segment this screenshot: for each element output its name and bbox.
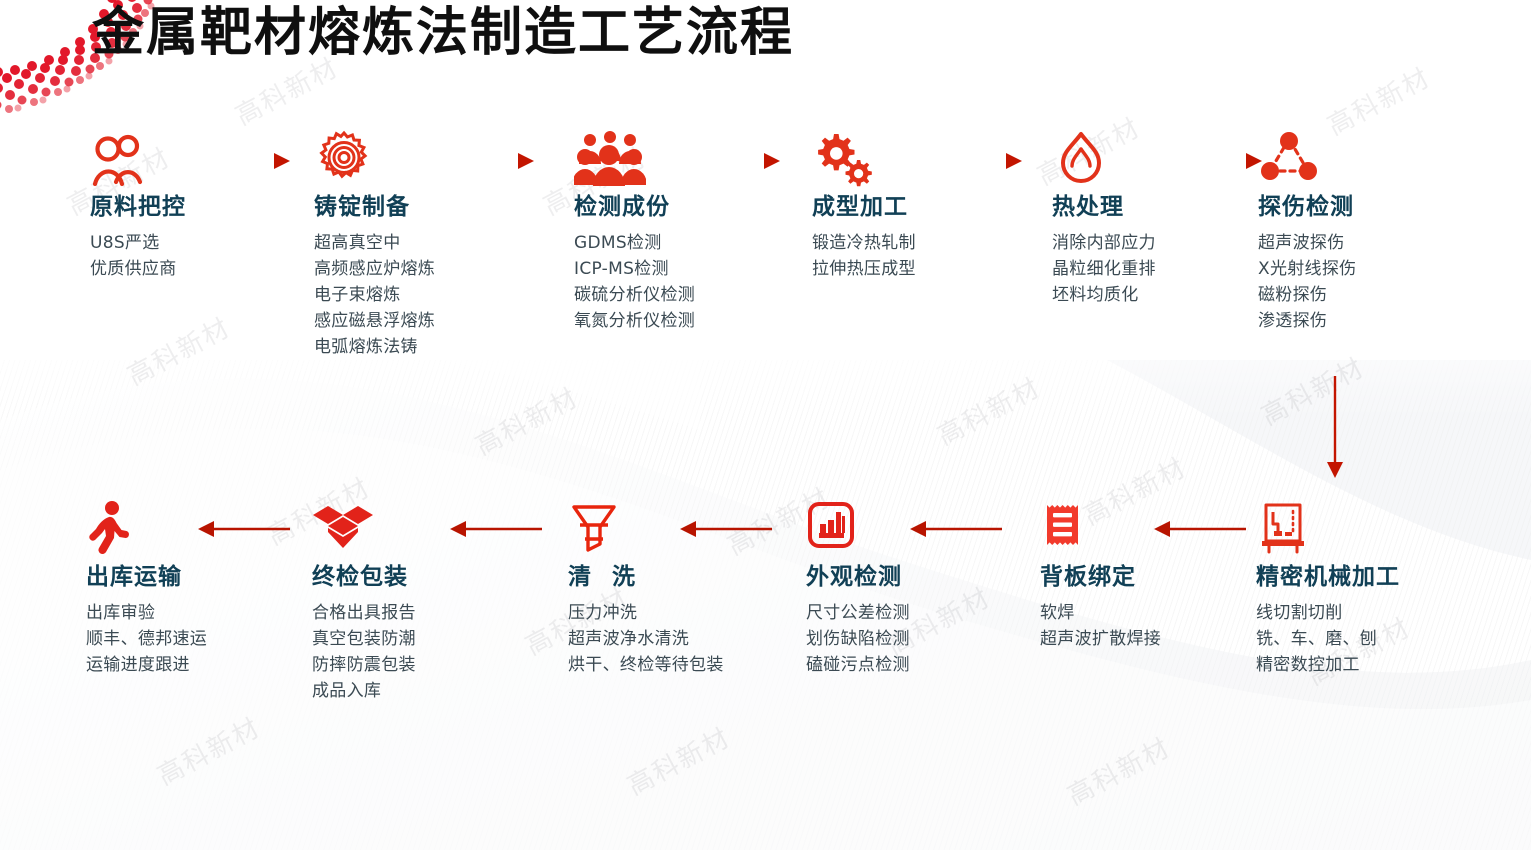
- two-people-icon: [90, 130, 186, 188]
- watermark: 高科新材: [1060, 727, 1176, 812]
- flame-icon: [1052, 130, 1156, 188]
- list-item: GDMS检测: [574, 230, 695, 256]
- list-item: 碳硫分析仪检测: [574, 282, 695, 308]
- list-item: X光射线探伤: [1258, 256, 1356, 282]
- step-heading: 原料把控: [90, 194, 186, 220]
- list-item: 精密数控加工: [1256, 652, 1400, 678]
- step-item-list: GDMS检测 ICP-MS检测 碳硫分析仪检测 氧氮分析仪检测: [574, 230, 695, 334]
- list-item: 超声波净水清洗: [568, 626, 748, 652]
- step-item-list: 尺寸公差检测 划伤缺陷检测 磕碰污点检测: [806, 600, 910, 678]
- step-heading: 热处理: [1052, 194, 1156, 220]
- step-composition-testing[interactable]: 检测成份 GDMS检测 ICP-MS检测 碳硫分析仪检测 氧氮分析仪检测: [574, 130, 695, 334]
- arrow-down-6-7: [1322, 376, 1348, 480]
- step-precision-machining[interactable]: 精密机械加工 线切割切削 铣、车、磨、刨 精密数控加工: [1256, 500, 1400, 678]
- gear-target-icon: [314, 130, 435, 188]
- watermark: 高科新材: [150, 707, 266, 792]
- step-cleaning[interactable]: 清洗 压力冲洗 超声波净水清洗 烘干、终检等待包装: [568, 500, 748, 678]
- step-heading: 探伤检测: [1258, 194, 1356, 220]
- step-heading: 终检包装: [312, 564, 416, 590]
- list-item: 运输进度跟进: [86, 652, 207, 678]
- step-item-list: 线切割切削 铣、车、磨、刨 精密数控加工: [1256, 600, 1400, 678]
- list-item: 出库审验: [86, 600, 207, 626]
- list-item: 划伤缺陷检测: [806, 626, 910, 652]
- cnc-machine-icon: [1256, 500, 1400, 558]
- arrow-right-1-2: [196, 148, 292, 174]
- list-item: 磕碰污点检测: [806, 652, 910, 678]
- page-header: 金属靶材熔炼法制造工艺流程: [0, 0, 1531, 105]
- list-item: 拉伸热压成型: [812, 256, 916, 282]
- list-item: 顺丰、德邦速运: [86, 626, 207, 652]
- step-item-list: 软焊 超声波扩散焊接: [1040, 600, 1161, 652]
- arrow-left-7-8: [1152, 516, 1248, 542]
- list-item: 渗透探伤: [1258, 308, 1356, 334]
- step-raw-material-control[interactable]: 原料把控 U8S严选 优质供应商: [90, 130, 186, 282]
- step-heading: 外观检测: [806, 564, 910, 590]
- step-ingot-preparation[interactable]: 铸锭制备 超高真空中 高频感应炉熔炼 电子束熔炼 感应磁悬浮熔炼 电弧熔炼法铸: [314, 130, 435, 360]
- list-item: 超高真空中: [314, 230, 435, 256]
- arrow-left-11-12: [196, 516, 292, 542]
- step-item-list: 出库审验 顺丰、德邦速运 运输进度跟进: [86, 600, 207, 678]
- flow-diagram-page: 高科新材 高科新材 高科新材 高科新材 高科新材 高科新材 高科新材 高科新材 …: [0, 0, 1531, 850]
- list-item: 晶粒细化重排: [1052, 256, 1156, 282]
- list-item: 合格出具报告: [312, 600, 416, 626]
- list-item: 真空包装防潮: [312, 626, 416, 652]
- bonding-plate-icon: [1040, 500, 1161, 558]
- list-item: 压力冲洗: [568, 600, 748, 626]
- list-item: 感应磁悬浮熔炼: [314, 308, 435, 334]
- arrow-right-5-6: [1168, 148, 1264, 174]
- step-item-list: 超高真空中 高频感应炉熔炼 电子束熔炼 感应磁悬浮熔炼 电弧熔炼法铸: [314, 230, 435, 360]
- list-item: 线切割切削: [1256, 600, 1400, 626]
- step-item-list: U8S严选 优质供应商: [90, 230, 186, 282]
- list-item: 超声波探伤: [1258, 230, 1356, 256]
- list-item: 软焊: [1040, 600, 1161, 626]
- arrow-right-3-4: [686, 148, 782, 174]
- open-box-icon: [312, 500, 416, 558]
- step-item-list: 合格出具报告 真空包装防潮 防摔防震包装 成品入库: [312, 600, 416, 704]
- step-backplate-bonding[interactable]: 背板绑定 软焊 超声波扩散焊接: [1040, 500, 1161, 652]
- funnel-icon: [568, 500, 748, 558]
- arrow-left-10-11: [448, 516, 544, 542]
- walking-person-icon: [86, 500, 207, 558]
- page-title: 金属靶材熔炼法制造工艺流程: [92, 2, 794, 64]
- two-gears-icon: [812, 130, 916, 188]
- step-appearance-inspection[interactable]: 外观检测 尺寸公差检测 划伤缺陷检测 磕碰污点检测: [806, 500, 910, 678]
- list-item: 烘干、终检等待包装: [568, 652, 748, 678]
- arrow-right-4-5: [928, 148, 1024, 174]
- list-item: 超声波扩散焊接: [1040, 626, 1161, 652]
- step-heat-treatment[interactable]: 热处理 消除内部应力 晶粒细化重排 坯料均质化: [1052, 130, 1156, 308]
- step-flaw-detection[interactable]: 探伤检测 超声波探伤 X光射线探伤 磁粉探伤 渗透探伤: [1258, 130, 1356, 334]
- three-dot-triangle-icon: [1258, 130, 1356, 188]
- list-item: 成品入库: [312, 678, 416, 704]
- list-item: U8S严选: [90, 230, 186, 256]
- arrow-left-8-9: [908, 516, 1004, 542]
- list-item: 高频感应炉熔炼: [314, 256, 435, 282]
- list-item: 磁粉探伤: [1258, 282, 1356, 308]
- step-item-list: 超声波探伤 X光射线探伤 磁粉探伤 渗透探伤: [1258, 230, 1356, 334]
- people-group-icon: [574, 130, 695, 188]
- step-heading: 出库运输: [86, 564, 207, 590]
- step-heading: 铸锭制备: [314, 194, 435, 220]
- step-heading: 检测成份: [574, 194, 695, 220]
- watermark: 高科新材: [620, 717, 736, 802]
- arrow-right-2-3: [440, 148, 536, 174]
- list-item: 优质供应商: [90, 256, 186, 282]
- list-item: 氧氮分析仪检测: [574, 308, 695, 334]
- step-item-list: 压力冲洗 超声波净水清洗 烘干、终检等待包装: [568, 600, 748, 678]
- list-item: 坯料均质化: [1052, 282, 1156, 308]
- list-item: 尺寸公差检测: [806, 600, 910, 626]
- list-item: ICP-MS检测: [574, 256, 695, 282]
- step-item-list: 消除内部应力 晶粒细化重排 坯料均质化: [1052, 230, 1156, 308]
- step-final-inspection-packaging[interactable]: 终检包装 合格出具报告 真空包装防潮 防摔防震包装 成品入库: [312, 500, 416, 704]
- list-item: 锻造冷热轧制: [812, 230, 916, 256]
- step-heading: 成型加工: [812, 194, 916, 220]
- step-heading: 清洗: [568, 564, 748, 590]
- list-item: 消除内部应力: [1052, 230, 1156, 256]
- factory-badge-icon: [806, 500, 910, 558]
- list-item: 电弧熔炼法铸: [314, 334, 435, 360]
- step-forming-processing[interactable]: 成型加工 锻造冷热轧制 拉伸热压成型: [812, 130, 916, 282]
- step-heading: 精密机械加工: [1256, 564, 1400, 590]
- list-item: 防摔防震包装: [312, 652, 416, 678]
- step-item-list: 锻造冷热轧制 拉伸热压成型: [812, 230, 916, 282]
- step-outbound-shipping[interactable]: 出库运输 出库审验 顺丰、德邦速运 运输进度跟进: [86, 500, 207, 678]
- step-heading: 背板绑定: [1040, 564, 1161, 590]
- list-item: 电子束熔炼: [314, 282, 435, 308]
- list-item: 铣、车、磨、刨: [1256, 626, 1400, 652]
